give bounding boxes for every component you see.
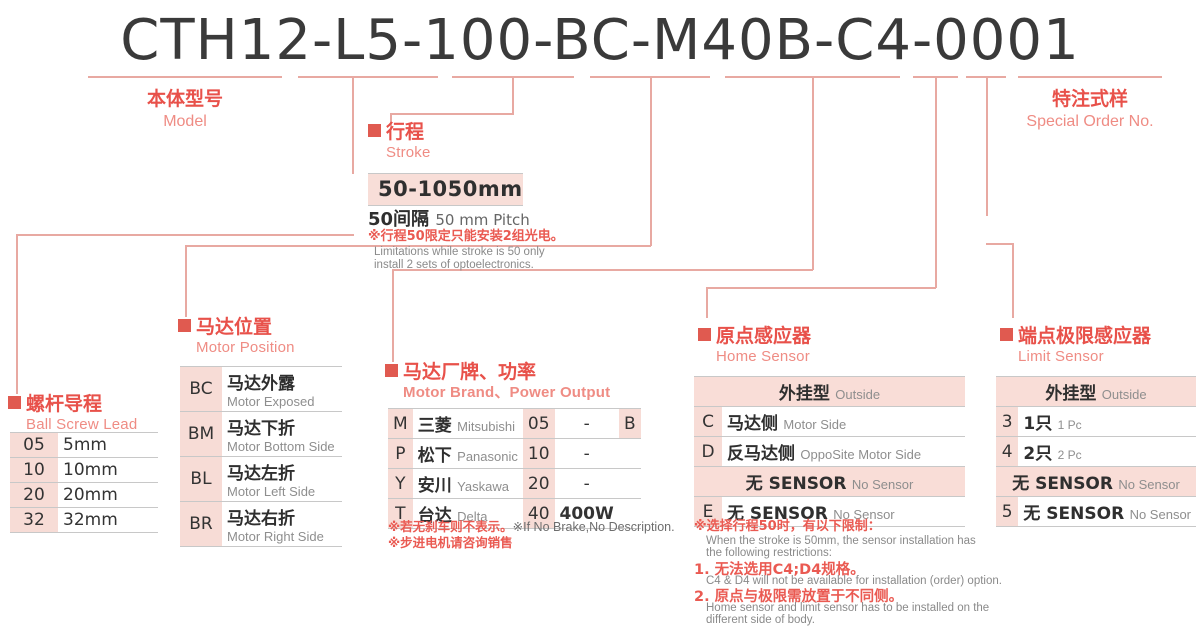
stroke-pitch-en: 50 mm Pitch: [435, 211, 529, 229]
home-sensor-group-2-cn: 无 SENSOR: [746, 474, 847, 494]
leader-underline-model: [88, 76, 282, 78]
motor-position-cn: 马达下折: [227, 414, 337, 439]
marker-square-icon: [698, 328, 711, 341]
limit-sensor-value: 无 SENSOR No Sensor: [1018, 497, 1196, 527]
leader-stem-limit: [986, 76, 988, 216]
motor-position-en: Motor Right Side: [227, 529, 337, 544]
motor-position-code: BC: [180, 367, 222, 412]
table-row-group-header: 无 SENSOR No Sensor: [996, 467, 1196, 497]
home-sensor-group-2-header: 无 SENSOR No Sensor: [694, 467, 965, 497]
motor-position-cn: 马达右折: [227, 504, 337, 529]
label-model-en: Model: [88, 113, 282, 131]
motor-brand-table: M 三菱 Mitsubishi 05 - B P 松下 Panasonic 10…: [388, 408, 641, 529]
section-home-sensor-title-cn: 原点感应器: [698, 326, 811, 347]
leader-underline-lead: [298, 76, 438, 78]
table-row: BC 马达外露 Motor Exposed: [180, 367, 342, 412]
home-sensor-table: 外挂型 Outside C 马达侧 Motor Side D 反马达侧 Oppo…: [694, 376, 965, 527]
motor-brand-name: 安川 Yaskawa: [413, 469, 523, 499]
table-row-group-header: 无 SENSOR No Sensor: [694, 467, 965, 497]
motor-brand-name: 松下 Panasonic: [413, 439, 523, 469]
lead-value: 10mm: [58, 458, 158, 483]
table-row: Y 安川 Yaskawa 20 -: [388, 469, 641, 499]
home-sensor-note-item-2-en-2: different side of body.: [706, 613, 815, 629]
leader-route-limit-main: [986, 243, 1013, 245]
section-limit-sensor-title-en: Limit Sensor: [1000, 348, 1151, 367]
motor-power-value: -: [555, 469, 619, 499]
motor-brand-cn: 松下: [418, 446, 452, 466]
section-home-sensor-title-en: Home Sensor: [698, 348, 811, 367]
table-row: 10 10mm: [10, 458, 158, 483]
motor-position-value: 马达外露 Motor Exposed: [222, 367, 342, 412]
limit-sensor-code: 5: [996, 497, 1018, 527]
lead-value: 5mm: [58, 433, 158, 458]
section-limit-sensor-heading: 端点极限感应器 Limit Sensor: [1000, 326, 1151, 367]
motor-position-code: BL: [180, 457, 222, 502]
limit-sensor-cn: 无 SENSOR: [1023, 504, 1124, 524]
motor-position-en: Motor Bottom Side: [227, 439, 337, 454]
leader-route-limit-v: [1012, 243, 1014, 318]
motor-brand-code: P: [388, 439, 413, 469]
motor-position-code: BM: [180, 412, 222, 457]
leader-stem-motorbrand: [812, 76, 814, 270]
motor-brake-code: B: [619, 409, 641, 439]
table-row: 3 1只 1 Pc: [996, 407, 1196, 437]
home-sensor-group-1-header: 外挂型 Outside: [694, 377, 965, 407]
motor-brake-code: [619, 469, 641, 499]
label-special-order-en: Special Order No.: [1018, 113, 1162, 131]
marker-square-icon: [385, 364, 398, 377]
motor-position-value: 马达右折 Motor Right Side: [222, 502, 342, 547]
table-row: C 马达侧 Motor Side: [694, 407, 965, 437]
motor-position-value: 马达下折 Motor Bottom Side: [222, 412, 342, 457]
motor-position-code: BR: [180, 502, 222, 547]
leader-underline-special: [1018, 76, 1162, 78]
stroke-range-box: 50-1050mm: [368, 173, 523, 206]
table-row: 4 2只 2 Pc: [996, 437, 1196, 467]
limit-sensor-code: 4: [996, 437, 1018, 467]
limit-sensor-en: 2 Pc: [1058, 448, 1082, 462]
motor-brand-note-1-en: ※If No Brake,No Description.: [513, 520, 675, 534]
motor-brand-code: Y: [388, 469, 413, 499]
home-sensor-group-1-en: Outside: [835, 387, 880, 402]
table-row: 05 5mm: [10, 433, 158, 458]
motor-power-value: -: [555, 439, 619, 469]
limit-sensor-group-1-cn: 外挂型: [1045, 384, 1096, 404]
motor-brand-note-2-cn: ※步进电机请咨询销售: [388, 535, 513, 550]
leader-route-motorpos-v: [185, 245, 187, 317]
leader-stem-motorpos: [650, 76, 652, 246]
label-special-order-cn: 特注式样: [1018, 84, 1162, 111]
table-row: 5 无 SENSOR No Sensor: [996, 497, 1196, 527]
home-sensor-cn: 马达侧: [727, 414, 778, 434]
limit-sensor-group-1-en: Outside: [1102, 387, 1147, 402]
limit-sensor-value: 2只 2 Pc: [1018, 437, 1196, 467]
home-sensor-cn: 反马达侧: [727, 444, 795, 464]
motor-brand-cn: 安川: [418, 476, 452, 496]
label-model-cn: 本体型号: [88, 84, 282, 111]
lead-code: 05: [10, 433, 58, 458]
section-motor-brand-title-cn: 马达厂牌、功率: [385, 362, 610, 383]
table-row: BM 马达下折 Motor Bottom Side: [180, 412, 342, 457]
limit-sensor-cn: 2只: [1023, 444, 1052, 464]
ball-screw-lead-table: 05 5mm 10 10mm 20 20mm 32 32mm: [10, 432, 158, 533]
marker-square-icon: [368, 124, 381, 137]
marker-square-icon: [8, 396, 21, 409]
limit-sensor-table: 外挂型 Outside 3 1只 1 Pc 4 2只 2 Pc 无 SENSOR…: [996, 376, 1196, 527]
lead-code: 20: [10, 483, 58, 508]
home-sensor-group-2-en: No Sensor: [852, 477, 913, 492]
home-sensor-code: D: [694, 437, 722, 467]
limit-sensor-group-2-en: No Sensor: [1118, 477, 1179, 492]
limit-sensor-code: 3: [996, 407, 1018, 437]
motor-position-en: Motor Left Side: [227, 484, 337, 499]
motor-position-table: BC 马达外露 Motor Exposed BM 马达下折 Motor Bott…: [180, 366, 342, 547]
table-row: 20 20mm: [10, 483, 158, 508]
limit-sensor-value: 1只 1 Pc: [1018, 407, 1196, 437]
motor-brand-en: Mitsubishi: [457, 419, 515, 434]
part-number: CTH12-L5-100-BC-M40B-C4-0001: [0, 8, 1200, 73]
lead-code: 10: [10, 458, 58, 483]
table-row-group-header: 外挂型 Outside: [996, 377, 1196, 407]
limit-sensor-en: 1 Pc: [1058, 418, 1082, 432]
section-stroke-title-en: Stroke: [368, 144, 431, 163]
leader-stem-stroke: [512, 76, 514, 114]
home-sensor-code: C: [694, 407, 722, 437]
motor-power-code: 05: [523, 409, 555, 439]
marker-square-icon: [178, 319, 191, 332]
section-limit-sensor-title-cn: 端点极限感应器: [1000, 326, 1151, 347]
limit-sensor-group-2-header: 无 SENSOR No Sensor: [996, 467, 1196, 497]
motor-brand-name: 三菱 Mitsubishi: [413, 409, 523, 439]
table-row: M 三菱 Mitsubishi 05 - B: [388, 409, 641, 439]
lead-value: 20mm: [58, 483, 158, 508]
leader-stem-home: [935, 76, 937, 288]
section-motor-position-heading: 马达位置 Motor Position: [178, 317, 295, 358]
leader-stem-lead: [352, 76, 354, 174]
section-motor-position-title-en: Motor Position: [178, 339, 295, 358]
section-motor-position-title-cn: 马达位置: [178, 317, 295, 338]
motor-power-code: 20: [523, 469, 555, 499]
motor-brand-note-1-cn: ※若无刹车则不表示。: [388, 519, 513, 534]
home-sensor-en: Motor Side: [783, 417, 846, 432]
home-sensor-value: 反马达侧 OppoSite Motor Side: [722, 437, 965, 467]
section-motor-brand-heading: 马达厂牌、功率 Motor Brand、Power Output: [385, 362, 610, 403]
motor-position-value: 马达左折 Motor Left Side: [222, 457, 342, 502]
home-sensor-note-title-cn: ※选择行程50时，有以下限制：: [694, 518, 881, 536]
home-sensor-en: OppoSite Motor Side: [800, 447, 921, 462]
table-row-group-header: 外挂型 Outside: [694, 377, 965, 407]
motor-power-value: -: [555, 409, 619, 439]
leader-route-home-v: [706, 287, 708, 318]
motor-brand-en: Yaskawa: [457, 479, 509, 494]
table-row: 32 32mm: [10, 508, 158, 533]
section-motor-brand-title-en: Motor Brand、Power Output: [385, 384, 610, 403]
leader-route-motorbrand-v: [392, 269, 394, 362]
leader-route-stroke-h: [390, 113, 514, 115]
lead-value: 32mm: [58, 508, 158, 533]
stroke-note-en-2: install 2 sets of optoelectronics.: [374, 258, 534, 274]
motor-power-code: 10: [523, 439, 555, 469]
label-special-order: 特注式样 Special Order No.: [1018, 84, 1162, 131]
limit-sensor-group-1-header: 外挂型 Outside: [996, 377, 1196, 407]
section-stroke-heading: 行程 Stroke: [368, 122, 431, 163]
motor-brand-code: M: [388, 409, 413, 439]
home-sensor-group-1-cn: 外挂型: [779, 384, 830, 404]
motor-brand-en: Panasonic: [457, 449, 518, 464]
table-row: P 松下 Panasonic 10 -: [388, 439, 641, 469]
table-row: BR 马达右折 Motor Right Side: [180, 502, 342, 547]
stroke-pitch-cn: 50间隔: [368, 209, 429, 230]
marker-square-icon: [1000, 328, 1013, 341]
motor-brand-note-2: ※步进电机请咨询销售: [388, 534, 513, 553]
leader-route-home-h: [706, 287, 936, 289]
section-home-sensor-heading: 原点感应器 Home Sensor: [698, 326, 811, 367]
home-sensor-value: 马达侧 Motor Side: [722, 407, 965, 437]
leader-route-lead-h: [16, 234, 354, 236]
label-model: 本体型号 Model: [88, 84, 282, 131]
section-stroke-title-cn: 行程: [368, 122, 431, 143]
motor-brand-cn: 三菱: [418, 416, 452, 436]
motor-brake-code: [619, 439, 641, 469]
limit-sensor-en: No Sensor: [1130, 507, 1191, 522]
table-row: BL 马达左折 Motor Left Side: [180, 457, 342, 502]
stroke-note-cn: ※行程50限定只能安装2组光电。: [368, 228, 564, 246]
motor-position-cn: 马达外露: [227, 369, 337, 394]
section-ball-screw-lead-title-cn: 螺杆导程: [8, 394, 137, 415]
limit-sensor-cn: 1只: [1023, 414, 1052, 434]
leader-route-lead-v: [16, 234, 18, 394]
lead-code: 32: [10, 508, 58, 533]
section-ball-screw-lead-heading: 螺杆导程 Ball Screw Lead: [8, 394, 137, 435]
table-row: D 反马达侧 OppoSite Motor Side: [694, 437, 965, 467]
motor-position-cn: 马达左折: [227, 459, 337, 484]
motor-position-en: Motor Exposed: [227, 394, 337, 409]
limit-sensor-group-2-cn: 无 SENSOR: [1012, 474, 1113, 494]
